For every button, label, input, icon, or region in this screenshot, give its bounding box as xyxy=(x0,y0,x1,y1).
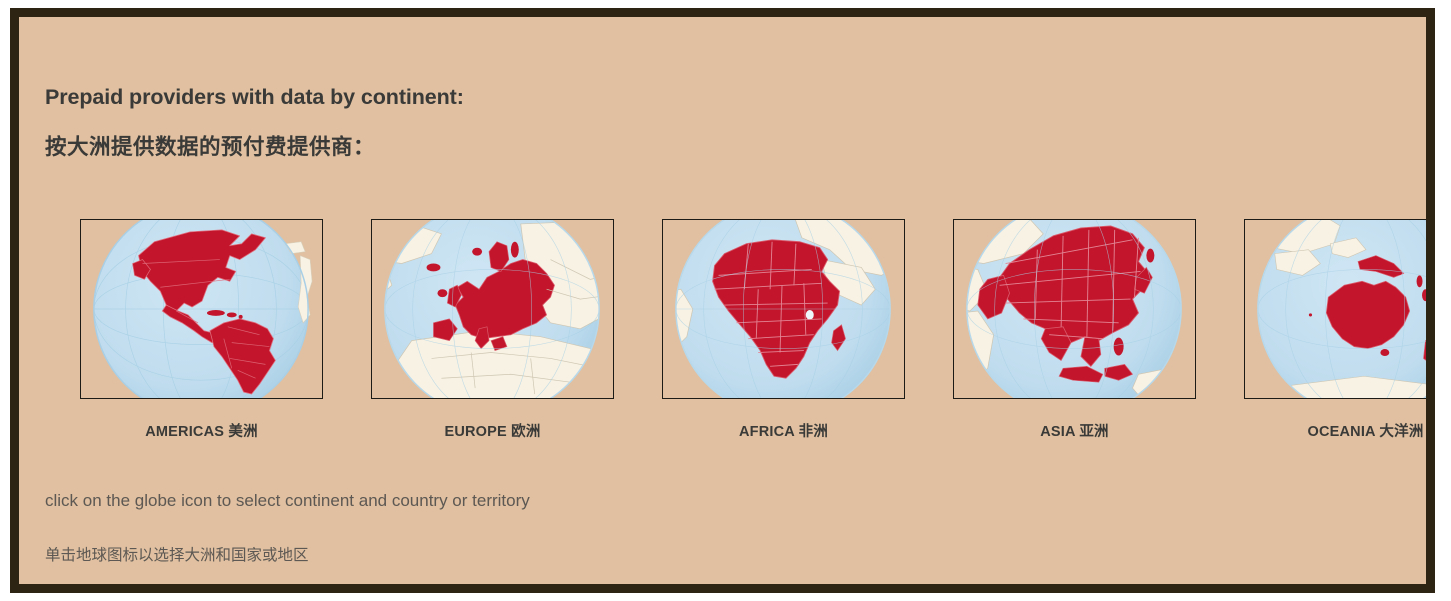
continent-item-europe[interactable]: EUROPE 欧洲 xyxy=(371,219,614,441)
continent-item-africa[interactable]: AFRICA 非洲 xyxy=(662,219,905,441)
globe-oceania-icon xyxy=(1245,220,1435,398)
globe-oceania-thumbnail[interactable] xyxy=(1244,219,1435,399)
continent-globe-list: AMERICAS 美洲 xyxy=(70,219,1435,449)
instruction-chinese: 单击地球图标以选择大洲和国家或地区 xyxy=(45,543,309,565)
globe-americas-thumbnail[interactable] xyxy=(80,219,323,399)
globe-asia-thumbnail[interactable] xyxy=(953,219,1196,399)
continent-caption-oceania: OCEANIA 大洋洲 xyxy=(1244,420,1435,441)
continent-item-americas[interactable]: AMERICAS 美洲 xyxy=(80,219,323,441)
continent-caption-asia: ASIA 亚洲 xyxy=(953,420,1196,441)
continent-caption-europe: EUROPE 欧洲 xyxy=(371,420,614,441)
page-title-english: Prepaid providers with data by continent… xyxy=(45,85,464,110)
bordered-panel: Prepaid providers with data by continent… xyxy=(10,8,1435,593)
instruction-english: click on the globe icon to select contin… xyxy=(45,491,530,511)
globe-asia-icon xyxy=(954,220,1195,398)
globe-africa-thumbnail[interactable] xyxy=(662,219,905,399)
page-title-chinese: 按大洲提供数据的预付费提供商： xyxy=(45,130,375,161)
globe-europe-icon xyxy=(372,220,613,398)
continent-caption-americas: AMERICAS 美洲 xyxy=(80,420,323,441)
globe-africa-icon xyxy=(663,220,904,398)
continent-item-oceania[interactable]: OCEANIA 大洋洲 xyxy=(1244,219,1435,441)
continent-caption-africa: AFRICA 非洲 xyxy=(662,420,905,441)
panel-content: Prepaid providers with data by continent… xyxy=(19,17,1435,584)
panel-right-border xyxy=(1426,8,1435,593)
globe-americas-icon xyxy=(81,220,322,398)
globe-europe-thumbnail[interactable] xyxy=(371,219,614,399)
continent-item-asia[interactable]: ASIA 亚洲 xyxy=(953,219,1196,441)
